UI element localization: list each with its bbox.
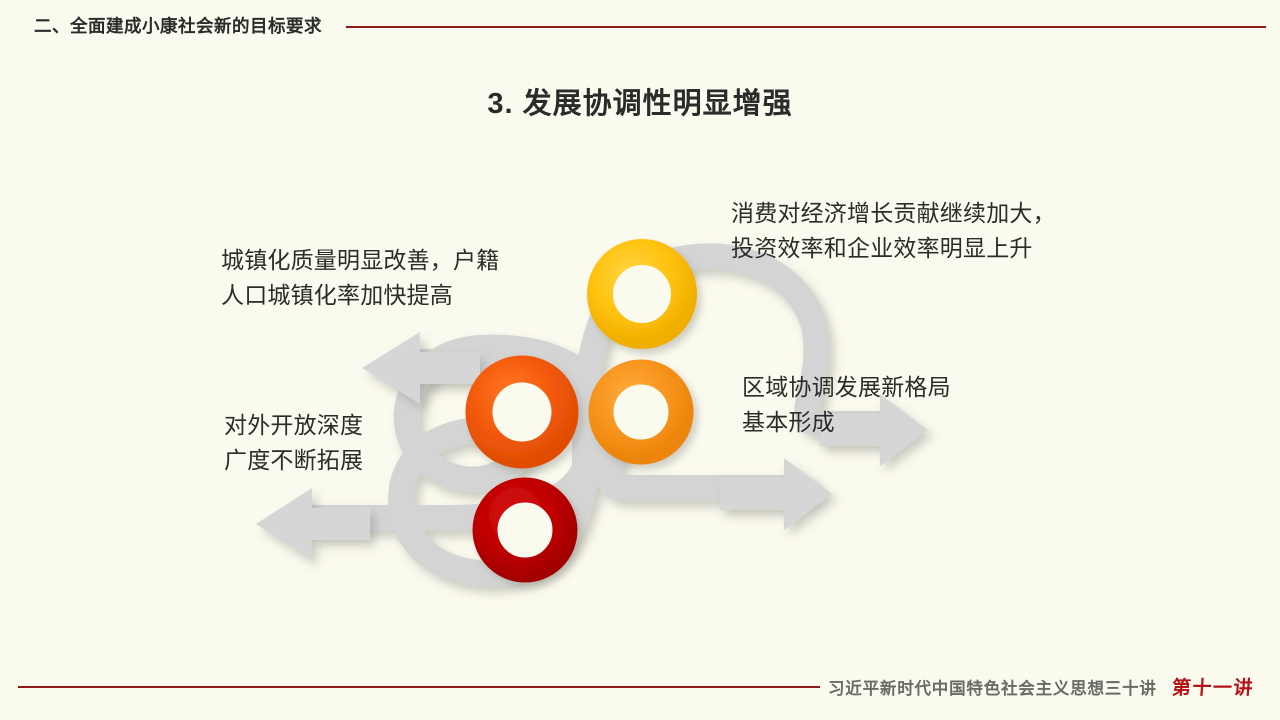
callout-consumption: 消费对经济增长贡献继续加大， 投资效率和企业效率明显上升: [731, 196, 1056, 266]
ring-opening: [475, 480, 575, 580]
footer-lecture-badge: 第十一讲: [1171, 673, 1255, 700]
ring-region: [591, 362, 691, 462]
slide-canvas: 二、全面建成小康社会新的目标要求 3. 发展协调性明显增强: [0, 0, 1280, 720]
ring-consumption: [590, 242, 694, 346]
callout-regional-development: 区域协调发展新格局 基本形成: [742, 370, 951, 440]
header-divider-line: [346, 26, 1266, 28]
arrow-mid-right-icon: [720, 458, 832, 530]
callout-urbanization: 城镇化质量明显改善，户籍 人口城镇化率加快提高: [221, 243, 499, 313]
section-title: 二、全面建成小康社会新的目标要求: [34, 13, 322, 38]
slide-header: 二、全面建成小康社会新的目标要求: [0, 0, 1280, 44]
page-title: 3. 发展协调性明显增强: [0, 80, 1280, 122]
slide-footer: 习近平新时代中国特色社会主义思想三十讲 第十一讲: [0, 660, 1280, 720]
footer-divider-line: [18, 686, 820, 688]
footer-book-title: 习近平新时代中国特色社会主义思想三十讲: [828, 675, 1157, 699]
ring-urbanization: [468, 358, 576, 466]
arrow-bottom-left-icon: [256, 488, 370, 560]
callout-opening-up: 对外开放深度 广度不断拓展: [224, 408, 363, 478]
